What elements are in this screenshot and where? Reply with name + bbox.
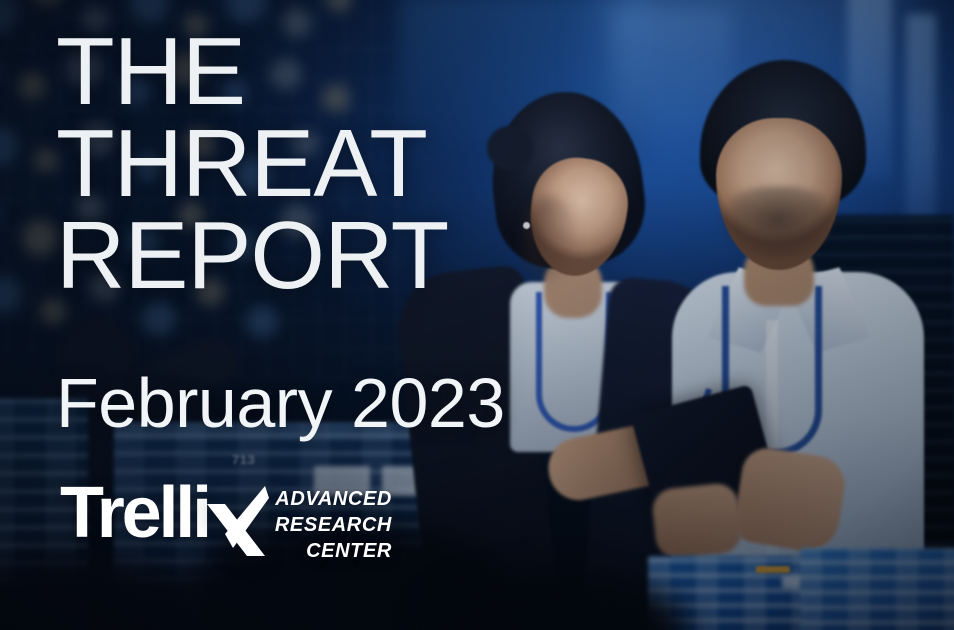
trellix-x-icon [203,486,269,556]
threat-report-cover: 713 [0,0,954,630]
division-line-1: ADVANCED [275,486,392,512]
trellix-logo-lockup: Trelli ADVANCED RESEARCH CENTER [60,480,392,564]
title-line-3: REPORT [56,210,448,302]
title-line-1: THE [56,26,448,118]
division-line-2: RESEARCH [275,512,392,538]
issue-date: February 2023 [56,368,505,438]
page-title: THE THREAT REPORT [56,26,448,302]
division-line-3: CENTER [275,538,392,564]
trellix-wordmark: Trelli [60,480,209,546]
division-name: ADVANCED RESEARCH CENTER [275,486,392,564]
text-overlay: THE THREAT REPORT February 2023 Trelli A… [0,0,954,630]
title-line-2: THREAT [56,118,448,210]
